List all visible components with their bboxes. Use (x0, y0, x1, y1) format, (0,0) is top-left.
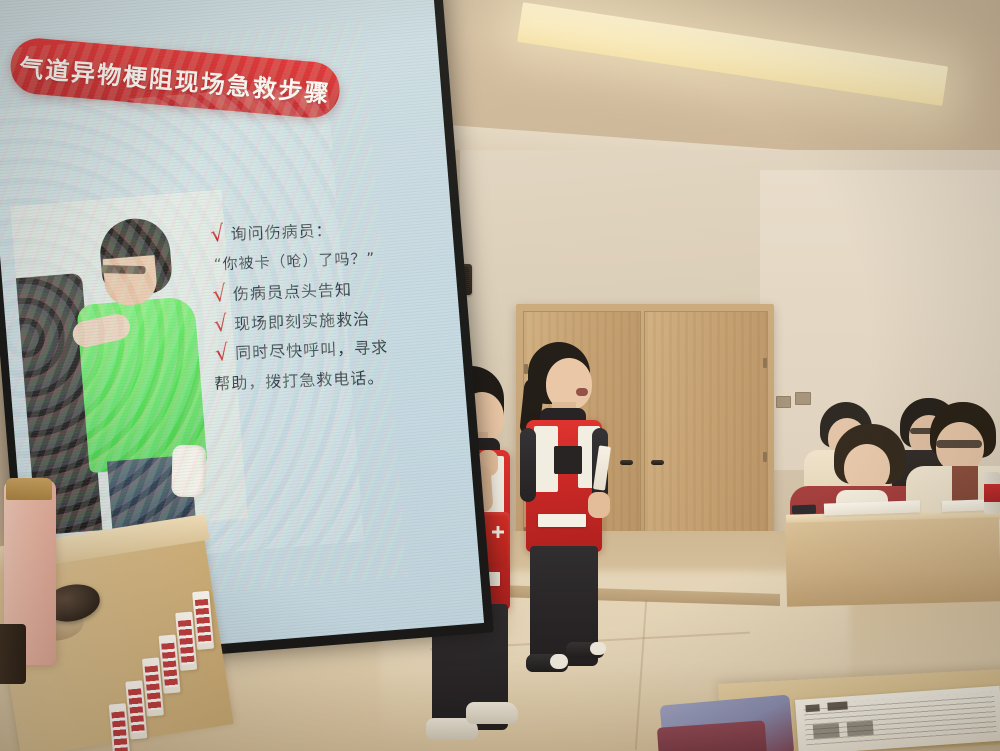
check-icon: √ (209, 223, 226, 247)
face (844, 444, 890, 492)
check-icon: √ (214, 343, 231, 367)
bullet-text: 询问伤病员： (230, 220, 333, 247)
list-item: 帮助，拨打急救电话。 (214, 365, 447, 397)
mouth-icon (576, 388, 588, 396)
check-icon: √ (213, 313, 230, 337)
sneaker-white (466, 702, 518, 724)
leaflet[interactable] (192, 591, 214, 650)
bullet-text: 现场即刻实施救治 (234, 308, 371, 336)
wall-socket-icon (795, 392, 811, 405)
handout-block (805, 704, 819, 712)
vest-logo (554, 446, 582, 474)
bottle-label (984, 484, 1000, 502)
leaflet-red-band (195, 599, 212, 644)
handout-block (847, 721, 874, 737)
slide-title-text: 气道异物梗阻现场急救步骤 (18, 47, 332, 109)
glasses-icon (936, 440, 982, 448)
vest-name-tag (538, 514, 586, 527)
shoe-white-toe (550, 654, 568, 669)
list-item: √ 伤病员点头告知 (213, 276, 444, 308)
door-hinge-icon (763, 358, 767, 368)
bullet-text: 伤病员点头告知 (233, 279, 353, 306)
list-item: √ 询问伤病员： (210, 216, 441, 248)
leaflet-red-band (128, 688, 145, 733)
list-item: √ 现场即刻实施救治 (214, 305, 445, 337)
handout-block (827, 701, 848, 710)
check-icon: √ (211, 283, 228, 307)
left-sleeve (520, 428, 536, 502)
slide-bullet-list: √ 询问伤病员： “你被卡（呛）了吗？” √ 伤病员点头告知 √ 现场即刻实施救… (210, 216, 447, 404)
leaflet-stack[interactable] (96, 593, 236, 750)
audience-desk-front (785, 517, 1000, 607)
wall-socket-icon (776, 396, 791, 408)
bullet-text: “你被卡（呛）了吗？” (213, 248, 375, 275)
thermos-cap[interactable] (6, 478, 52, 500)
photo-white-glove (171, 445, 206, 498)
leaflet-red-band (111, 711, 128, 751)
shoe-white-toe (590, 642, 606, 655)
bullet-text: 帮助，拨打急救电话。 (214, 367, 385, 396)
bullet-text: 同时尽快呼叫，寻求 (235, 337, 389, 366)
handout-block (813, 723, 840, 739)
door-handle-icon[interactable] (651, 460, 664, 465)
glasses-icon (101, 265, 145, 274)
dark-cup[interactable] (0, 624, 26, 684)
leaflet-red-band (178, 620, 195, 665)
leaflet-red-band (161, 643, 178, 688)
leaflet-red-band (145, 666, 162, 711)
training-room-photo: 气道异物梗阻现场急救步骤 √ 询问伤病员： “你被卡（呛）了吗？ (0, 0, 1000, 751)
door-handle-icon[interactable] (620, 460, 633, 465)
list-item: √ 同时尽快呼叫，寻求 (215, 335, 446, 367)
hand (588, 492, 610, 518)
slide-title-banner: 气道异物梗阻现场急救步骤 (8, 36, 342, 120)
list-item: “你被卡（呛）了吗？” (213, 245, 442, 275)
door-hinge-icon (763, 452, 767, 462)
mobile-phone[interactable] (792, 505, 816, 515)
